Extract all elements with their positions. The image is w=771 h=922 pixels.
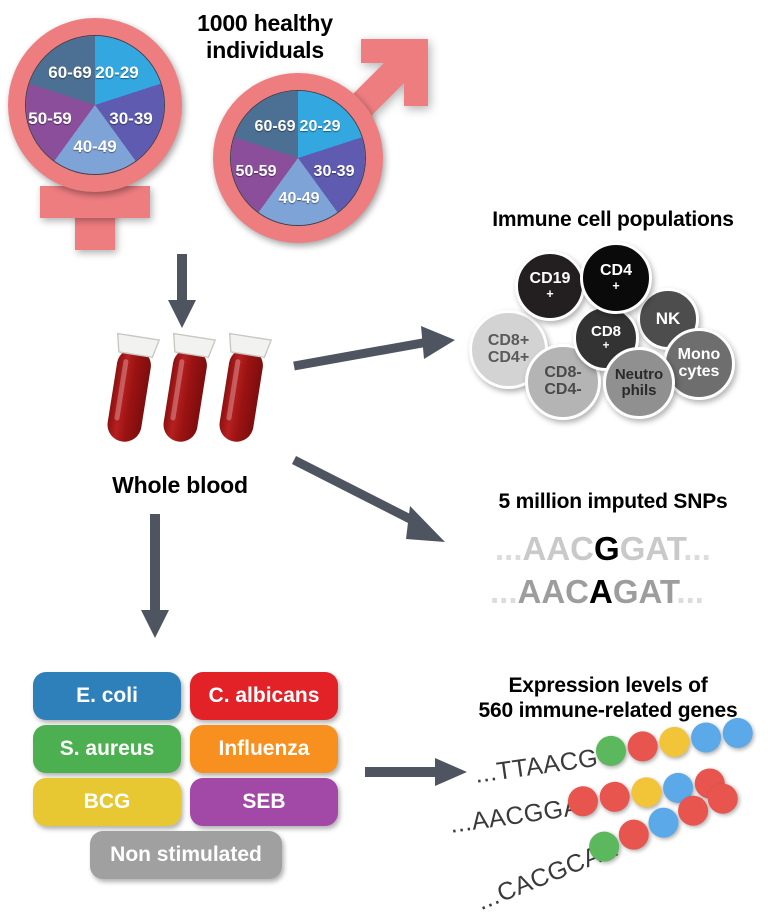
stimulus-label: BCG <box>84 790 131 814</box>
stimulus-influenza[interactable]: Influenza <box>190 725 338 773</box>
bubble-label-line2: cytes <box>679 364 720 381</box>
snp-left: AAC <box>518 573 590 610</box>
male-pie-label-50-59: 50-59 <box>236 163 277 181</box>
immune-title: Immune cell populations <box>455 208 771 233</box>
snp-left: AAC <box>523 530 595 567</box>
blood-tube <box>213 334 271 445</box>
snp-prefix: ... <box>490 573 518 610</box>
bubble-label-line1: Mono <box>678 347 721 364</box>
bubble-label-line2: CD4+ <box>488 350 529 367</box>
snp-variant: G <box>594 530 620 567</box>
expression-title-line1: Expression levels of <box>450 674 766 699</box>
female-pie-label-50-59: 50-59 <box>28 109 71 129</box>
snp-right: GAT <box>620 530 684 567</box>
bubble-neutrophils: Neutro phils <box>603 347 675 419</box>
female-pie-label-40-49: 40-49 <box>73 137 116 157</box>
expression-strands: ...TTAACGG ...AACGGAT ...CACGCAA <box>450 735 771 915</box>
female-pie-label-30-39: 30-39 <box>109 109 152 129</box>
blood-tubes <box>95 330 275 455</box>
immune-bubble-cluster: CD8+ CD4+ CD8- CD4- CD19+ CD4+ CD8+ NK N… <box>455 238 771 418</box>
blood-tube <box>157 334 215 445</box>
arrow-cohort-to-blood <box>162 252 202 332</box>
stimulus-label: SEB <box>242 790 285 814</box>
bubble-label-line1: CD8+ <box>488 333 529 350</box>
snp-prefix: ... <box>495 530 523 567</box>
stimulus-c-albicans[interactable]: C. albicans <box>190 672 338 720</box>
stimulus-e-coli[interactable]: E. coli <box>33 672 181 720</box>
snp-allele-1: ...AACGGAT... <box>495 530 711 568</box>
stimulus-label: C. albicans <box>209 684 320 708</box>
bubble-label: CD8+ <box>591 324 621 352</box>
arrow-blood-to-stimuli <box>135 512 175 642</box>
male-pie-label-40-49: 40-49 <box>279 190 320 208</box>
snp-suffix: ... <box>683 530 711 567</box>
stimulus-label: E. coli <box>76 684 138 708</box>
male-pie-label-60-69: 60-69 <box>255 118 296 136</box>
stimulus-label: S. aureus <box>60 737 155 761</box>
figure-canvas: 1000 healthy individuals 20-29 30-39 40-… <box>0 0 771 922</box>
stimulus-label: Influenza <box>218 737 309 761</box>
snp-allele-2: ...AACAGAT... <box>490 573 704 611</box>
expression-title: Expression levels of 560 immune-related … <box>450 674 766 724</box>
bubble-cd4p: CD4+ <box>580 242 652 314</box>
bubble-label: CD4+ <box>600 263 632 293</box>
female-pie-label-60-69: 60-69 <box>48 63 91 83</box>
stimulus-s-aureus[interactable]: S. aureus <box>33 725 181 773</box>
female-symbol: 20-29 30-39 40-49 50-59 60-69 <box>8 18 208 248</box>
strand-bead <box>629 775 663 809</box>
strand-bead <box>626 729 660 763</box>
male-pie-label-30-39: 30-39 <box>314 163 355 181</box>
stimulus-seb[interactable]: SEB <box>190 778 338 826</box>
snp-right: GAT <box>613 573 677 610</box>
blood-tube <box>101 334 159 445</box>
bubble-label-line2: phils <box>621 383 656 399</box>
female-pie-label-20-29: 20-29 <box>95 63 138 83</box>
bubble-label: NK <box>656 310 681 328</box>
male-symbol: 20-29 30-39 40-49 50-59 60-69 <box>205 55 435 250</box>
arrow-blood-to-immune <box>290 320 460 380</box>
bubble-label-line1: CD8- <box>544 365 581 382</box>
snp-variant: A <box>589 573 613 610</box>
expression-title-line2: 560 immune-related genes <box>450 699 766 724</box>
stimulus-non-stimulated[interactable]: Non stimulated <box>90 831 282 879</box>
bubble-label: CD19+ <box>530 271 571 301</box>
snp-title: 5 million imputed SNPs <box>455 490 771 515</box>
stimulus-label: Non stimulated <box>110 843 262 867</box>
strand-bead <box>657 725 691 759</box>
male-pie-label-20-29: 20-29 <box>300 118 341 136</box>
bubble-label-line2: CD4- <box>544 382 581 399</box>
bubble-cd19p: CD19+ <box>515 251 585 321</box>
whole-blood-label: Whole blood <box>70 472 290 499</box>
snp-suffix: ... <box>676 573 704 610</box>
bubble-label-line1: Neutro <box>615 367 663 383</box>
stimulus-bcg[interactable]: BCG <box>33 778 181 826</box>
strand-bead <box>598 780 632 814</box>
strand-bead <box>689 721 723 755</box>
stimuli-panel: E. coli C. albicans S. aureus Influenza … <box>33 672 343 892</box>
arrow-blood-to-snp <box>290 450 460 555</box>
